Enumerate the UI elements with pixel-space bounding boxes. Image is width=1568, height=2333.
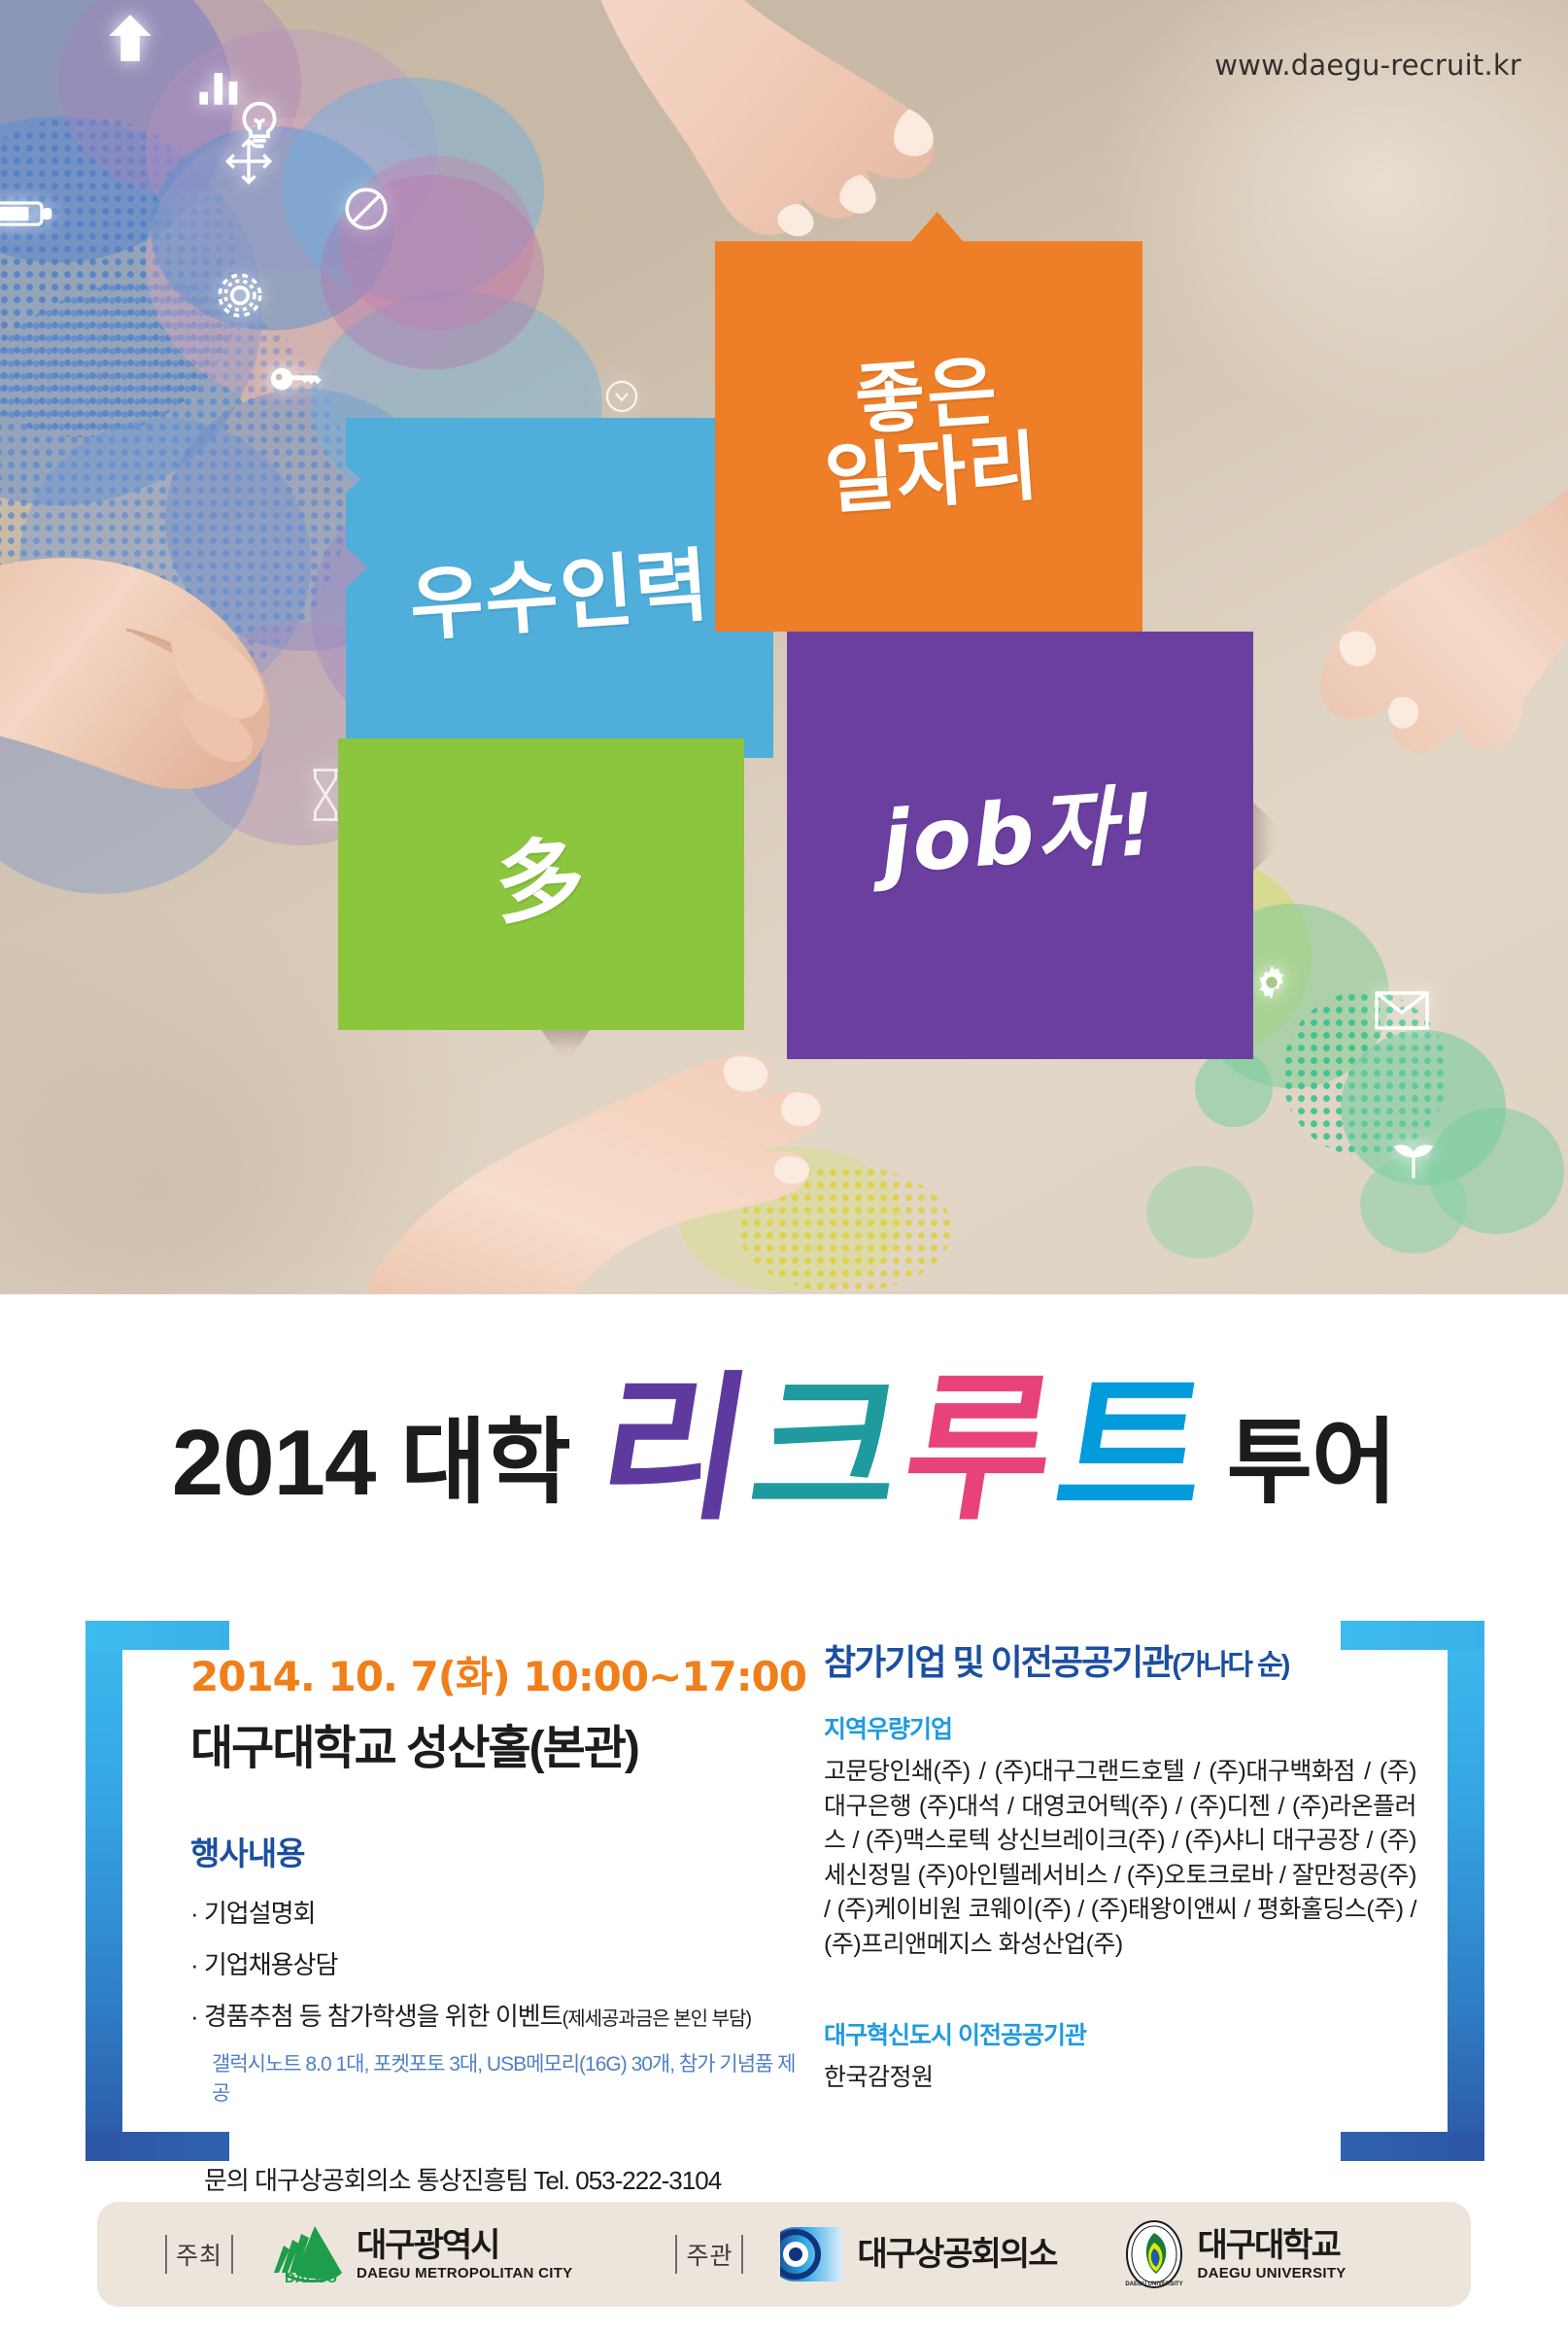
chevron-down-icon <box>604 379 639 414</box>
hand-left-fist <box>0 457 389 884</box>
bubble-orange-text: 좋은 일자리 <box>700 197 1156 646</box>
dcci-ko: 대구상공회의소 <box>857 2238 1056 2271</box>
participants-heading-main: 참가기업 및 이전공공기관 <box>824 1642 1172 1682</box>
daegu-city-names: 대구광역시 DAEGU METROPOLITAN CITY <box>357 2229 572 2281</box>
hero-banner: 우수인력 좋은 일자리 多 job자! www.daegu-recruit.kr <box>0 0 1568 1294</box>
group2-label: 대구혁신도시 이전공공기관 <box>824 2016 1416 2051</box>
move-arrows-icon <box>223 136 274 187</box>
no-entry-icon <box>342 185 391 233</box>
envelope-icon <box>1375 991 1429 1030</box>
gear-icon <box>212 267 268 324</box>
battery-icon <box>0 194 52 233</box>
dcci-logo: 대구상공회의소 <box>780 2225 1056 2283</box>
group1-label: 지역우량기업 <box>824 1710 1416 1745</box>
program-item: · 기업설명회 <box>190 1894 812 1930</box>
daegu-city-ko: 대구광역시 <box>357 2229 572 2262</box>
hand-right <box>1263 466 1568 855</box>
bubble-green-text: 多 <box>328 725 754 1044</box>
organizer-tag: 주관 <box>675 2235 743 2274</box>
participants-column: 참가기업 및 이전공공기관(가나다 순) 지역우량기업 고문당인쇄(주) / (… <box>824 1634 1416 2096</box>
leaf-icon <box>1387 1132 1440 1181</box>
bubble-orange: 좋은 일자리 <box>715 212 1142 632</box>
university-seal-icon: DAEGU UNIVERSITY <box>1124 2219 1184 2289</box>
program-item: · 경품추첨 등 참가학생을 위한 이벤트(제세공과금은 본인 부담) <box>190 1997 812 2033</box>
bubble-purple: job자! <box>787 632 1253 1059</box>
contact-line: 문의 대구상공회의소 통상진흥팀 Tel. 053-222-3104 <box>204 2161 812 2197</box>
title-tour: 투어 <box>1227 1417 1397 1524</box>
title-univ: 대학 <box>400 1417 570 1524</box>
daegu-univ-logo: DAEGU UNIVERSITY 대구대학교 DAEGU UNIVERSITY <box>1124 2219 1346 2289</box>
host-tag: 주최 <box>165 2235 233 2274</box>
website-url: www.daegu-recruit.kr <box>1214 49 1521 82</box>
sponsor-footer: 주최 DAEGU 대구광역시 DAEGU METROPOLITAN CITY 주… <box>97 2202 1471 2307</box>
dcci-names: 대구상공회의소 <box>857 2238 1056 2271</box>
program-item-note: (제세공과금은 본인 부담) <box>562 2008 751 2030</box>
bracket-left <box>85 1621 122 2161</box>
program-item: · 기업채용상담 <box>190 1945 812 1981</box>
bubble-blue: 우수인력 <box>346 418 773 758</box>
svg-text:DAEGU: DAEGU <box>285 2270 337 2284</box>
decor-bubble <box>1195 1049 1273 1127</box>
title-letter-ri: 리 <box>584 1377 760 1524</box>
bubble-green: 多 <box>338 738 744 1030</box>
title-letter-keu: 크 <box>736 1377 912 1524</box>
program-heading: 행사내용 <box>190 1828 812 1874</box>
poster-title: 2014 대학 리 크 루 트 투어 <box>0 1300 1568 1524</box>
title-letter-ru: 루 <box>889 1377 1065 1524</box>
svg-text:DAEGU UNIVERSITY: DAEGU UNIVERSITY <box>1126 2282 1183 2287</box>
event-details-column: 2014. 10. 7(화) 10:00~17:00 대구대학교 성산홀(본관)… <box>190 1644 812 2197</box>
daegu-city-en: DAEGU METROPOLITAN CITY <box>357 2266 572 2281</box>
daegu-univ-names: 대구대학교 DAEGU UNIVERSITY <box>1197 2229 1346 2281</box>
decor-bubble <box>1146 1166 1253 1258</box>
title-letter-teu: 트 <box>1041 1377 1217 1524</box>
key-icon <box>270 358 328 400</box>
info-panel: 2014. 10. 7(화) 10:00~17:00 대구대학교 성산홀(본관)… <box>85 1621 1484 2165</box>
bracket-right <box>1448 1621 1484 2161</box>
daegu-city-logo: DAEGU 대구광역시 DAEGU METROPOLITAN CITY <box>272 2224 572 2284</box>
daegu-univ-ko: 대구대학교 <box>1197 2229 1346 2262</box>
event-date: 2014. 10. 7(화) 10:00~17:00 <box>190 1644 812 1703</box>
arrow-up-icon <box>105 8 155 68</box>
program-item-main: · 경품추첨 등 참가학생을 위한 이벤트 <box>190 2002 562 2031</box>
group1-companies: 고문당인쇄(주) / (주)대구그랜드호텔 / (주)대구백화점 / (주)대구… <box>824 1755 1416 1962</box>
bubble-purple-text: job자! <box>772 616 1268 1075</box>
daegu-univ-en: DAEGU UNIVERSITY <box>1197 2266 1346 2281</box>
bubble-orange-line1: 좋은 일자리 <box>817 352 1042 521</box>
prize-note: 갤럭시노트 8.0 1대, 포켓포토 3대, USB메모리(16G) 30개, … <box>212 2048 812 2107</box>
event-venue: 대구대학교 성산홀(본관) <box>190 1709 812 1777</box>
group2-companies: 한국감정원 <box>824 2061 1416 2096</box>
spacer <box>824 1962 1416 2016</box>
participants-heading: 참가기업 및 이전공공기관(가나다 순) <box>824 1634 1416 1685</box>
participants-heading-sub: (가나다 순) <box>1172 1650 1288 1681</box>
gear-wave-icon <box>780 2225 844 2283</box>
title-year: 2014 <box>172 1417 376 1524</box>
decor-bubble <box>340 155 534 330</box>
daegu-mountain-icon: DAEGU <box>272 2224 344 2284</box>
